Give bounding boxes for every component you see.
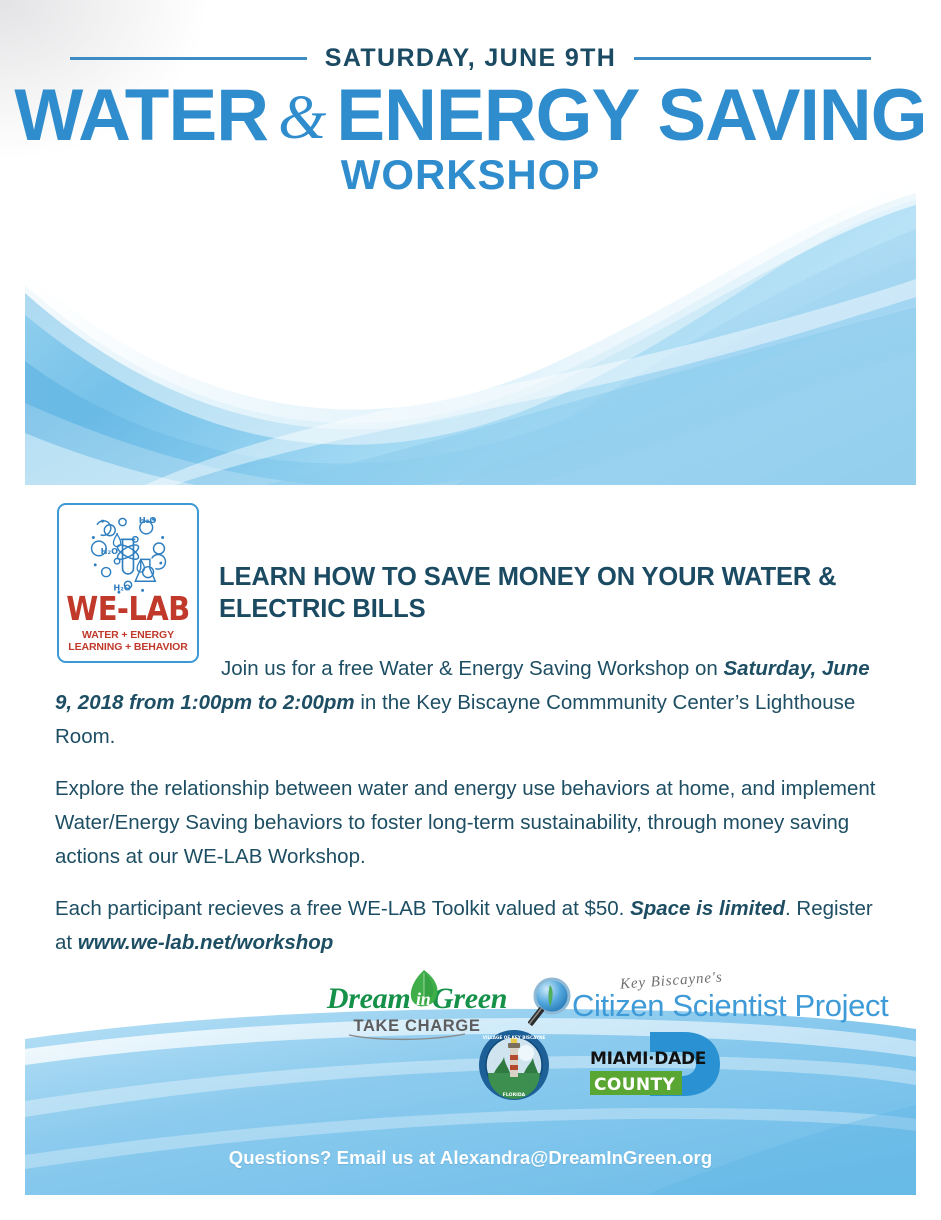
sponsor-logos: Dream Green in TAKE CHARGE: [0, 972, 941, 1122]
p3-emphasis-a: Space is limited: [630, 897, 785, 920]
dig-word-after: Green: [432, 982, 507, 1015]
event-date-row: SATURDAY, JUNE 9TH: [0, 44, 941, 73]
welab-wordmark: WE-LAB: [66, 593, 189, 625]
rule-left: [70, 57, 307, 60]
registration-url[interactable]: www.we-lab.net/workshop: [78, 931, 334, 954]
welab-tagline: WATER + ENERGY LEARNING + BEHAVIOR: [68, 630, 187, 654]
svg-text:H₂O: H₂O: [101, 546, 118, 556]
page-subtitle: WORKSHOP: [0, 151, 941, 199]
title-ampersand: &: [268, 84, 336, 152]
welab-logo: H₂O H₂O H₂O WE-LAB WATER + ENERGY LEARNI…: [57, 503, 199, 663]
flyer-page: SATURDAY, JUNE 9TH WATER&ENERGY SAVING W…: [0, 0, 941, 1220]
title-part-1: WATER: [14, 75, 268, 156]
rule-right: [634, 57, 871, 60]
paragraph-2: Explore the relationship between water a…: [55, 772, 890, 874]
lighthouse-seal-icon: VILLAGE OF KEY BISCAYNE FLORIDA: [478, 1029, 550, 1101]
dig-tagline: TAKE CHARGE: [353, 1017, 480, 1036]
p3-text-a: Each participant recieves a free WE-LAB …: [55, 897, 630, 920]
footer-contact: Questions? Email us at Alexandra@DreamIn…: [0, 1147, 941, 1169]
flyer-header: SATURDAY, JUNE 9TH WATER&ENERGY SAVING W…: [0, 0, 941, 199]
dig-wordmark: Dream Green in: [322, 982, 512, 1016]
hero-wave-graphic: [25, 165, 916, 485]
paragraph-1: Join us for a free Water & Energy Saving…: [55, 652, 890, 754]
p1-text-a: Join us for a free Water & Energy Saving…: [221, 657, 724, 680]
page-title: WATER&ENERGY SAVING: [0, 79, 941, 153]
dig-word-before: Dream: [327, 982, 411, 1015]
svg-text:VILLAGE OF KEY BISCAYNE: VILLAGE OF KEY BISCAYNE: [483, 1035, 546, 1040]
svg-text:FLORIDA: FLORIDA: [503, 1092, 526, 1098]
paragraph-3: Each participant recieves a free WE-LAB …: [55, 892, 890, 960]
citizen-scientist-project-logo: Key Biscayne's Citizen Scientist Project: [528, 976, 888, 1038]
title-part-2: ENERGY SAVING: [336, 75, 926, 156]
dig-word-in: in: [416, 989, 430, 1010]
section-headline: LEARN HOW TO SAVE MONEY ON YOUR WATER & …: [219, 561, 859, 625]
dream-in-green-logo: Dream Green in TAKE CHARGE: [322, 982, 512, 1036]
miami-dade-county-logo: MIAMI·DADE COUNTY: [588, 1030, 723, 1100]
underline-swoosh-icon: [349, 1033, 467, 1042]
science-bubbles-icon: H₂O H₂O H₂O: [82, 512, 174, 594]
svg-text:COUNTY: COUNTY: [594, 1075, 676, 1095]
event-date: SATURDAY, JUNE 9TH: [325, 44, 616, 73]
body-copy: Join us for a free Water & Energy Saving…: [55, 652, 890, 978]
svg-text:MIAMI·DADE: MIAMI·DADE: [590, 1049, 706, 1069]
welab-tagline-line1: WATER + ENERGY: [68, 630, 187, 642]
csp-title: Citizen Scientist Project: [572, 988, 888, 1024]
